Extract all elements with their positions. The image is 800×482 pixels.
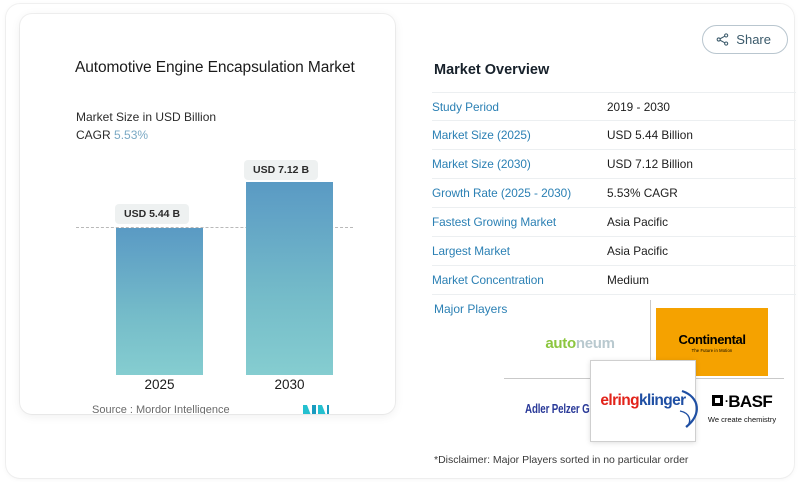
table-row: Market Concentration Medium <box>432 266 796 295</box>
row-key: Growth Rate (2025 - 2030) <box>432 186 607 200</box>
player-logo-basf: ·BASF We create chemistry <box>694 382 790 434</box>
page-card: Automotive Engine Encapsulation Market M… <box>6 4 794 478</box>
bar-2030[interactable] <box>246 182 333 375</box>
row-value: 2019 - 2030 <box>607 100 670 114</box>
share-button[interactable]: Share <box>702 25 788 54</box>
elringklinger-swoosh-icon <box>678 389 704 429</box>
row-value: USD 7.12 Billion <box>607 157 693 171</box>
row-value: USD 5.44 Billion <box>607 128 693 142</box>
table-row: Market Size (2025) USD 5.44 Billion <box>432 121 796 150</box>
table-row: Market Size (2030) USD 7.12 Billion <box>432 150 796 179</box>
row-value: Asia Pacific <box>607 215 668 229</box>
x-axis-tick-2025: 2025 <box>116 377 203 392</box>
chart-card: Automotive Engine Encapsulation Market M… <box>20 14 395 414</box>
row-key: Largest Market <box>432 244 607 258</box>
basf-tagline: We create chemistry <box>708 415 776 424</box>
bar-2025[interactable] <box>116 228 203 375</box>
basf-square-icon <box>712 395 723 406</box>
table-row: Largest Market Asia Pacific <box>432 237 796 266</box>
mordor-intelligence-logo <box>303 402 329 414</box>
autoneum-text-primary: auto <box>545 335 575 352</box>
player-logo-elringklinger: elringklinger <box>590 360 696 442</box>
major-players-logo-grid: autoneum Continental The Future in Motio… <box>504 300 784 435</box>
share-button-label: Share <box>736 32 771 47</box>
continental-tagline: The Future in Motion <box>678 348 745 353</box>
row-key: Market Size (2025) <box>432 128 607 142</box>
row-value: Medium <box>607 273 649 287</box>
table-row: Study Period 2019 - 2030 <box>432 92 796 121</box>
elring-text-primary: elring <box>600 392 639 409</box>
row-value: 5.53% CAGR <box>607 186 678 200</box>
bar-data-label-2030: USD 7.12 B <box>244 160 318 180</box>
basf-text: BASF <box>728 392 772 411</box>
disclaimer-text: *Disclaimer: Major Players sorted in no … <box>434 454 688 466</box>
share-icon <box>716 33 729 46</box>
market-overview-table: Study Period 2019 - 2030 Market Size (20… <box>432 92 796 295</box>
table-row: Growth Rate (2025 - 2030) 5.53% CAGR <box>432 179 796 208</box>
plot-area: USD 5.44 B USD 7.12 B 2025 2030 <box>20 14 395 414</box>
row-key: Study Period <box>432 100 607 114</box>
chart-source: Source : Mordor Intelligence <box>92 404 230 414</box>
row-key: Fastest Growing Market <box>432 215 607 229</box>
screenshot-root: Automotive Engine Encapsulation Market M… <box>0 0 800 482</box>
autoneum-text-secondary: neum <box>576 335 615 352</box>
row-key: Market Size (2030) <box>432 157 607 171</box>
continental-text: Continental <box>678 332 745 347</box>
major-players-title: Major Players <box>434 302 507 316</box>
row-value: Asia Pacific <box>607 244 668 258</box>
table-row: Fastest Growing Market Asia Pacific <box>432 208 796 237</box>
market-overview-title: Market Overview <box>434 62 549 78</box>
row-key: Market Concentration <box>432 273 607 287</box>
bar-data-label-2025: USD 5.44 B <box>115 204 189 224</box>
market-overview-panel: Share Market Overview Study Period 2019 … <box>410 14 796 474</box>
x-axis-tick-2030: 2030 <box>246 377 333 392</box>
